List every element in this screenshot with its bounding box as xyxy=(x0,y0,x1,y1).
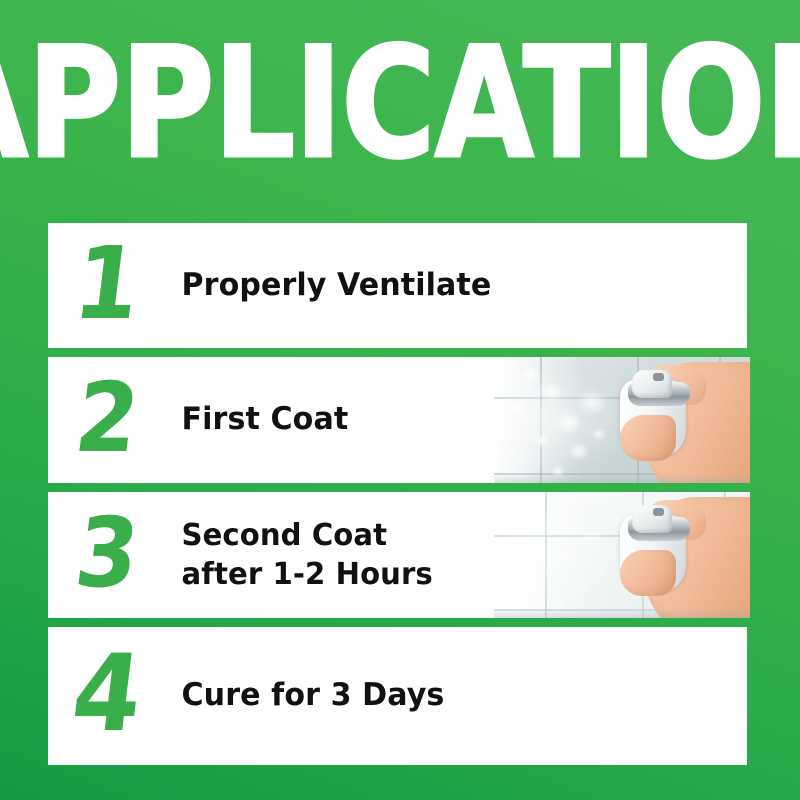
step-label-4: Cure for 3 Days xyxy=(166,676,730,716)
step-label-1: Properly Ventilate xyxy=(166,266,730,306)
step-card-1: 1 Properly Ventilate xyxy=(48,223,747,348)
step-card-2: 2 First Coat xyxy=(48,357,750,483)
step-card-1-content: 1 Properly Ventilate xyxy=(48,223,747,348)
step-card-3-content: 3 Second Coat after 1-2 Hours xyxy=(48,492,750,618)
step-number-3: 3 xyxy=(48,505,167,605)
step-label-2: First Coat xyxy=(166,400,732,440)
step-number-1: 1 xyxy=(48,234,168,338)
application-steps-poster: APPLICATION 1 Properly Ventilate xyxy=(0,0,800,800)
step-card-2-content: 2 First Coat xyxy=(48,357,750,483)
page-title: APPLICATION xyxy=(0,34,800,175)
step-card-3: 3 Second Coat after 1-2 Hours xyxy=(48,492,750,618)
step-number-4: 4 xyxy=(48,641,168,751)
step-card-4: 4 Cure for 3 Days xyxy=(48,627,747,765)
step-number-2: 2 xyxy=(48,370,167,470)
step-card-4-content: 4 Cure for 3 Days xyxy=(48,627,747,765)
title-area: APPLICATION xyxy=(0,34,800,174)
step-label-3: Second Coat after 1-2 Hours xyxy=(166,516,732,594)
